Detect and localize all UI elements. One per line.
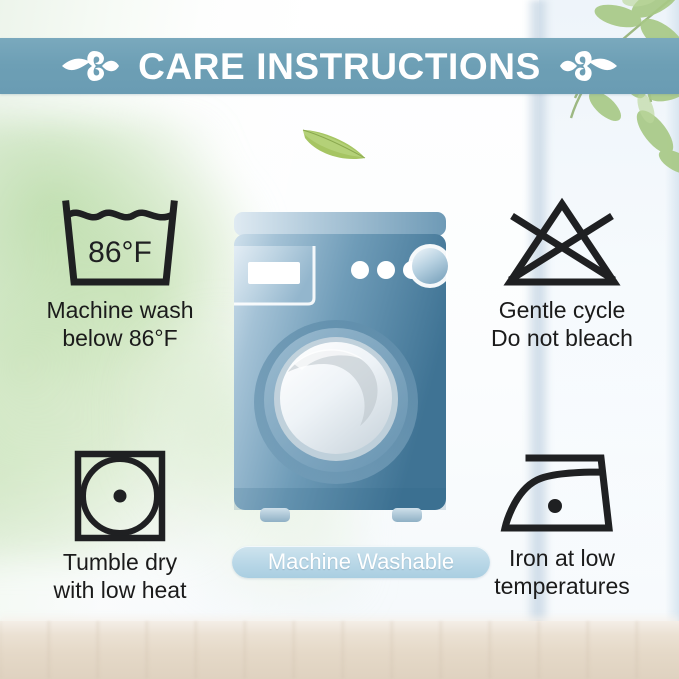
page-title: CARE INSTRUCTIONS bbox=[138, 48, 541, 85]
care-symbol-iron-low: Iron at low temperatures bbox=[452, 448, 672, 600]
care-caption-no-bleach: Gentle cycle Do not bleach bbox=[452, 296, 672, 352]
machine-feet bbox=[260, 508, 422, 522]
care-symbol-no-bleach: Gentle cycle Do not bleach bbox=[452, 196, 672, 352]
care-symbol-machine-wash: 86°F Machine wash below 86°F bbox=[10, 196, 230, 352]
washing-machine-illustration bbox=[232, 212, 448, 532]
care-symbol-tumble-dry: Tumble dry with low heat bbox=[10, 448, 230, 604]
wash-temperature-label: 86°F bbox=[88, 236, 152, 269]
bleach-triangle-crossed-icon bbox=[498, 196, 626, 292]
floating-leaf-icon bbox=[299, 120, 369, 164]
iron-one-dot-icon bbox=[497, 448, 627, 540]
wash-tub-icon: 86°F bbox=[56, 196, 184, 292]
wooden-table-surface bbox=[0, 621, 679, 679]
tumble-dry-low-icon bbox=[70, 448, 170, 544]
machine-washable-badge: Machine Washable bbox=[232, 546, 490, 578]
header-banner: CARE INSTRUCTIONS bbox=[0, 38, 679, 94]
care-caption-tumble-dry: Tumble dry with low heat bbox=[10, 548, 230, 604]
fleur-de-lis-ornament-left-icon bbox=[58, 46, 120, 86]
care-caption-machine-wash: Machine wash below 86°F bbox=[10, 296, 230, 352]
machine-washable-label: Machine Washable bbox=[268, 551, 454, 573]
care-instructions-infographic: CARE INSTRUCTIONS 86°F Machine wash belo… bbox=[0, 0, 679, 679]
fleur-de-lis-ornament-right-icon bbox=[559, 46, 621, 86]
